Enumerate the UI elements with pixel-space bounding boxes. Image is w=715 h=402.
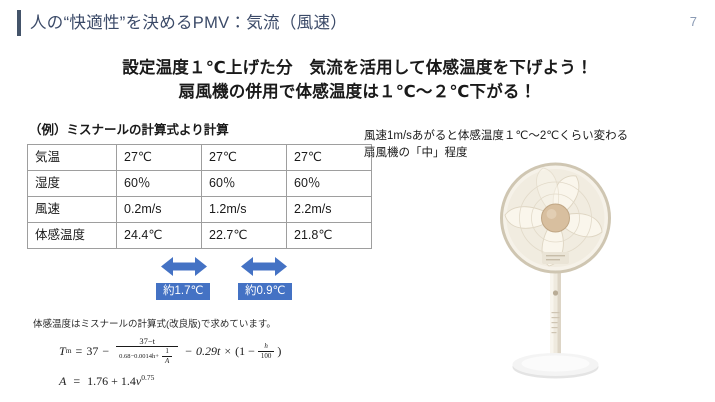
- table-cell: 1.2m/s: [202, 197, 287, 223]
- table-cell: 60％: [287, 171, 372, 197]
- formula-main-fraction: 37−t 0.68−0.0014h+ 1 A: [116, 336, 178, 366]
- table-row: 体感温度 24.4℃ 22.7℃ 21.8℃: [28, 223, 372, 249]
- right-note-line-1: 風速1m/sあがると体感温度１℃～2℃くらい変わる: [364, 128, 712, 145]
- delta-badge: 約0.9℃: [238, 283, 292, 300]
- table-row: 気温 27℃ 27℃ 27℃: [28, 145, 372, 171]
- table-cell: 27℃: [117, 145, 202, 171]
- table-cell: 22.7℃: [202, 223, 287, 249]
- table-row: 湿度 60％ 60％ 60％: [28, 171, 372, 197]
- double-arrow-icon: [161, 256, 207, 277]
- formula-coefficient: 0.29t: [196, 341, 220, 361]
- denominator-prefix: 0.68−0.0014h+: [119, 352, 159, 362]
- nested-fraction: 1 A: [162, 347, 172, 366]
- table-cell: 27℃: [287, 145, 372, 171]
- table-cell: 27℃: [202, 145, 287, 171]
- formula-secondary: A = 1.76 + 1.4v0.75: [59, 370, 343, 389]
- table-cell: 60％: [117, 171, 202, 197]
- formula-main: Tm = 37 − 37−t 0.68−0.0014h+ 1 A − 0.29t…: [59, 336, 343, 366]
- delta-badge: 約1.7℃: [156, 283, 210, 300]
- table-cell: 0.2m/s: [117, 197, 202, 223]
- formula-note: 体感温度はミスナールの計算式(改良版)で求めています。: [33, 318, 343, 332]
- subtitle-block: 設定温度１℃上げた分 気流を活用して体感温度を下げよう！ 扇風機の併用で体感温度…: [0, 56, 715, 104]
- nested-denominator: A: [162, 356, 172, 366]
- row-label: 気温: [28, 145, 117, 171]
- humidity-denominator: 100: [258, 351, 275, 361]
- formula-minus-1: −: [102, 341, 109, 361]
- table-row: 風速 0.2m/s 1.2m/s 2.2m/s: [28, 197, 372, 223]
- formula-times: ×: [224, 341, 231, 361]
- title-accent-bar: [17, 10, 21, 36]
- row-label: 体感温度: [28, 223, 117, 249]
- table-cell: 60％: [202, 171, 287, 197]
- formula-constant: 37: [86, 341, 98, 361]
- right-note-block: 風速1m/sあがると体感温度１℃～2℃くらい変わる 扇風機の「中」程度: [364, 128, 712, 162]
- formula-lhs-subscript: m: [66, 341, 72, 361]
- formula-equals: =: [76, 341, 83, 361]
- formula-lhs: T: [59, 341, 66, 361]
- table-cell: 21.8℃: [287, 223, 372, 249]
- table-cell: 24.4℃: [117, 223, 202, 249]
- subtitle-line-2: 扇風機の併用で体感温度は１℃～２℃下がる！: [0, 80, 715, 104]
- row-label: 湿度: [28, 171, 117, 197]
- slide: 人の“快適性”を決めるPMV：気流（風速） 7 設定温度１℃上げた分 気流を活用…: [0, 0, 715, 402]
- page-number: 7: [690, 11, 697, 33]
- fraction-numerator: 37−t: [136, 336, 158, 346]
- formula-sub-exponent: 0.75: [141, 373, 154, 382]
- humidity-fraction: h 100: [258, 342, 275, 361]
- example-caption: （例）ミスナールの計算式より計算: [29, 121, 229, 139]
- double-arrow-icon: [241, 256, 287, 277]
- row-label: 風速: [28, 197, 117, 223]
- subtitle-line-1: 設定温度１℃上げた分 気流を活用して体感温度を下げよう！: [0, 56, 715, 80]
- nested-numerator: 1: [162, 347, 172, 356]
- table-cell: 2.2m/s: [287, 197, 372, 223]
- formula-minus-2: −: [185, 341, 192, 361]
- formula-paren-close: ): [277, 341, 281, 361]
- page-title: 人の“快適性”を決めるPMV：気流（風速）: [30, 10, 347, 36]
- formula-sub-lhs: A: [59, 374, 66, 388]
- slide-header: 人の“快適性”を決めるPMV：気流（風速） 7: [0, 0, 715, 42]
- humidity-numerator: h: [261, 342, 271, 351]
- electric-fan-illustration: [468, 160, 643, 390]
- fraction-denominator: 0.68−0.0014h+ 1 A: [116, 346, 178, 366]
- formula-block: 体感温度はミスナールの計算式(改良版)で求めています。 Tm = 37 − 37…: [33, 318, 343, 389]
- formula-paren-open: (1 −: [235, 341, 255, 361]
- comfort-data-table: 気温 27℃ 27℃ 27℃ 湿度 60％ 60％ 60％ 風速 0.2m/s …: [27, 144, 372, 249]
- formula-sub-term: 1.76 + 1.4: [87, 374, 136, 388]
- formula-sub-equals: =: [73, 374, 80, 388]
